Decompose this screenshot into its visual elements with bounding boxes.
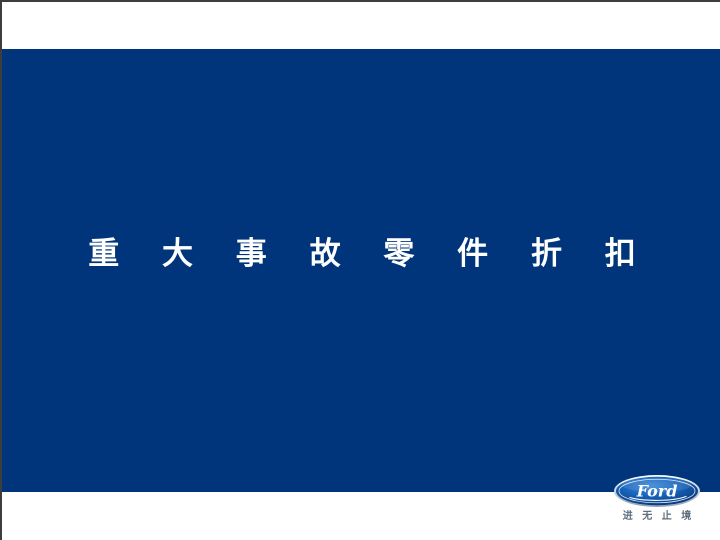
ford-brand-lockup: Ford 进 无 止 境 <box>610 472 704 532</box>
slide-title: 重 大 事 故 零 件 折 扣 <box>2 234 720 274</box>
slide-top-band <box>2 2 720 49</box>
presentation-slide: 重 大 事 故 零 件 折 扣 Ford <box>0 0 720 540</box>
svg-text:Ford: Ford <box>636 482 678 501</box>
ford-tagline: 进 无 止 境 <box>610 510 704 523</box>
ford-oval-logo: Ford <box>613 474 701 508</box>
